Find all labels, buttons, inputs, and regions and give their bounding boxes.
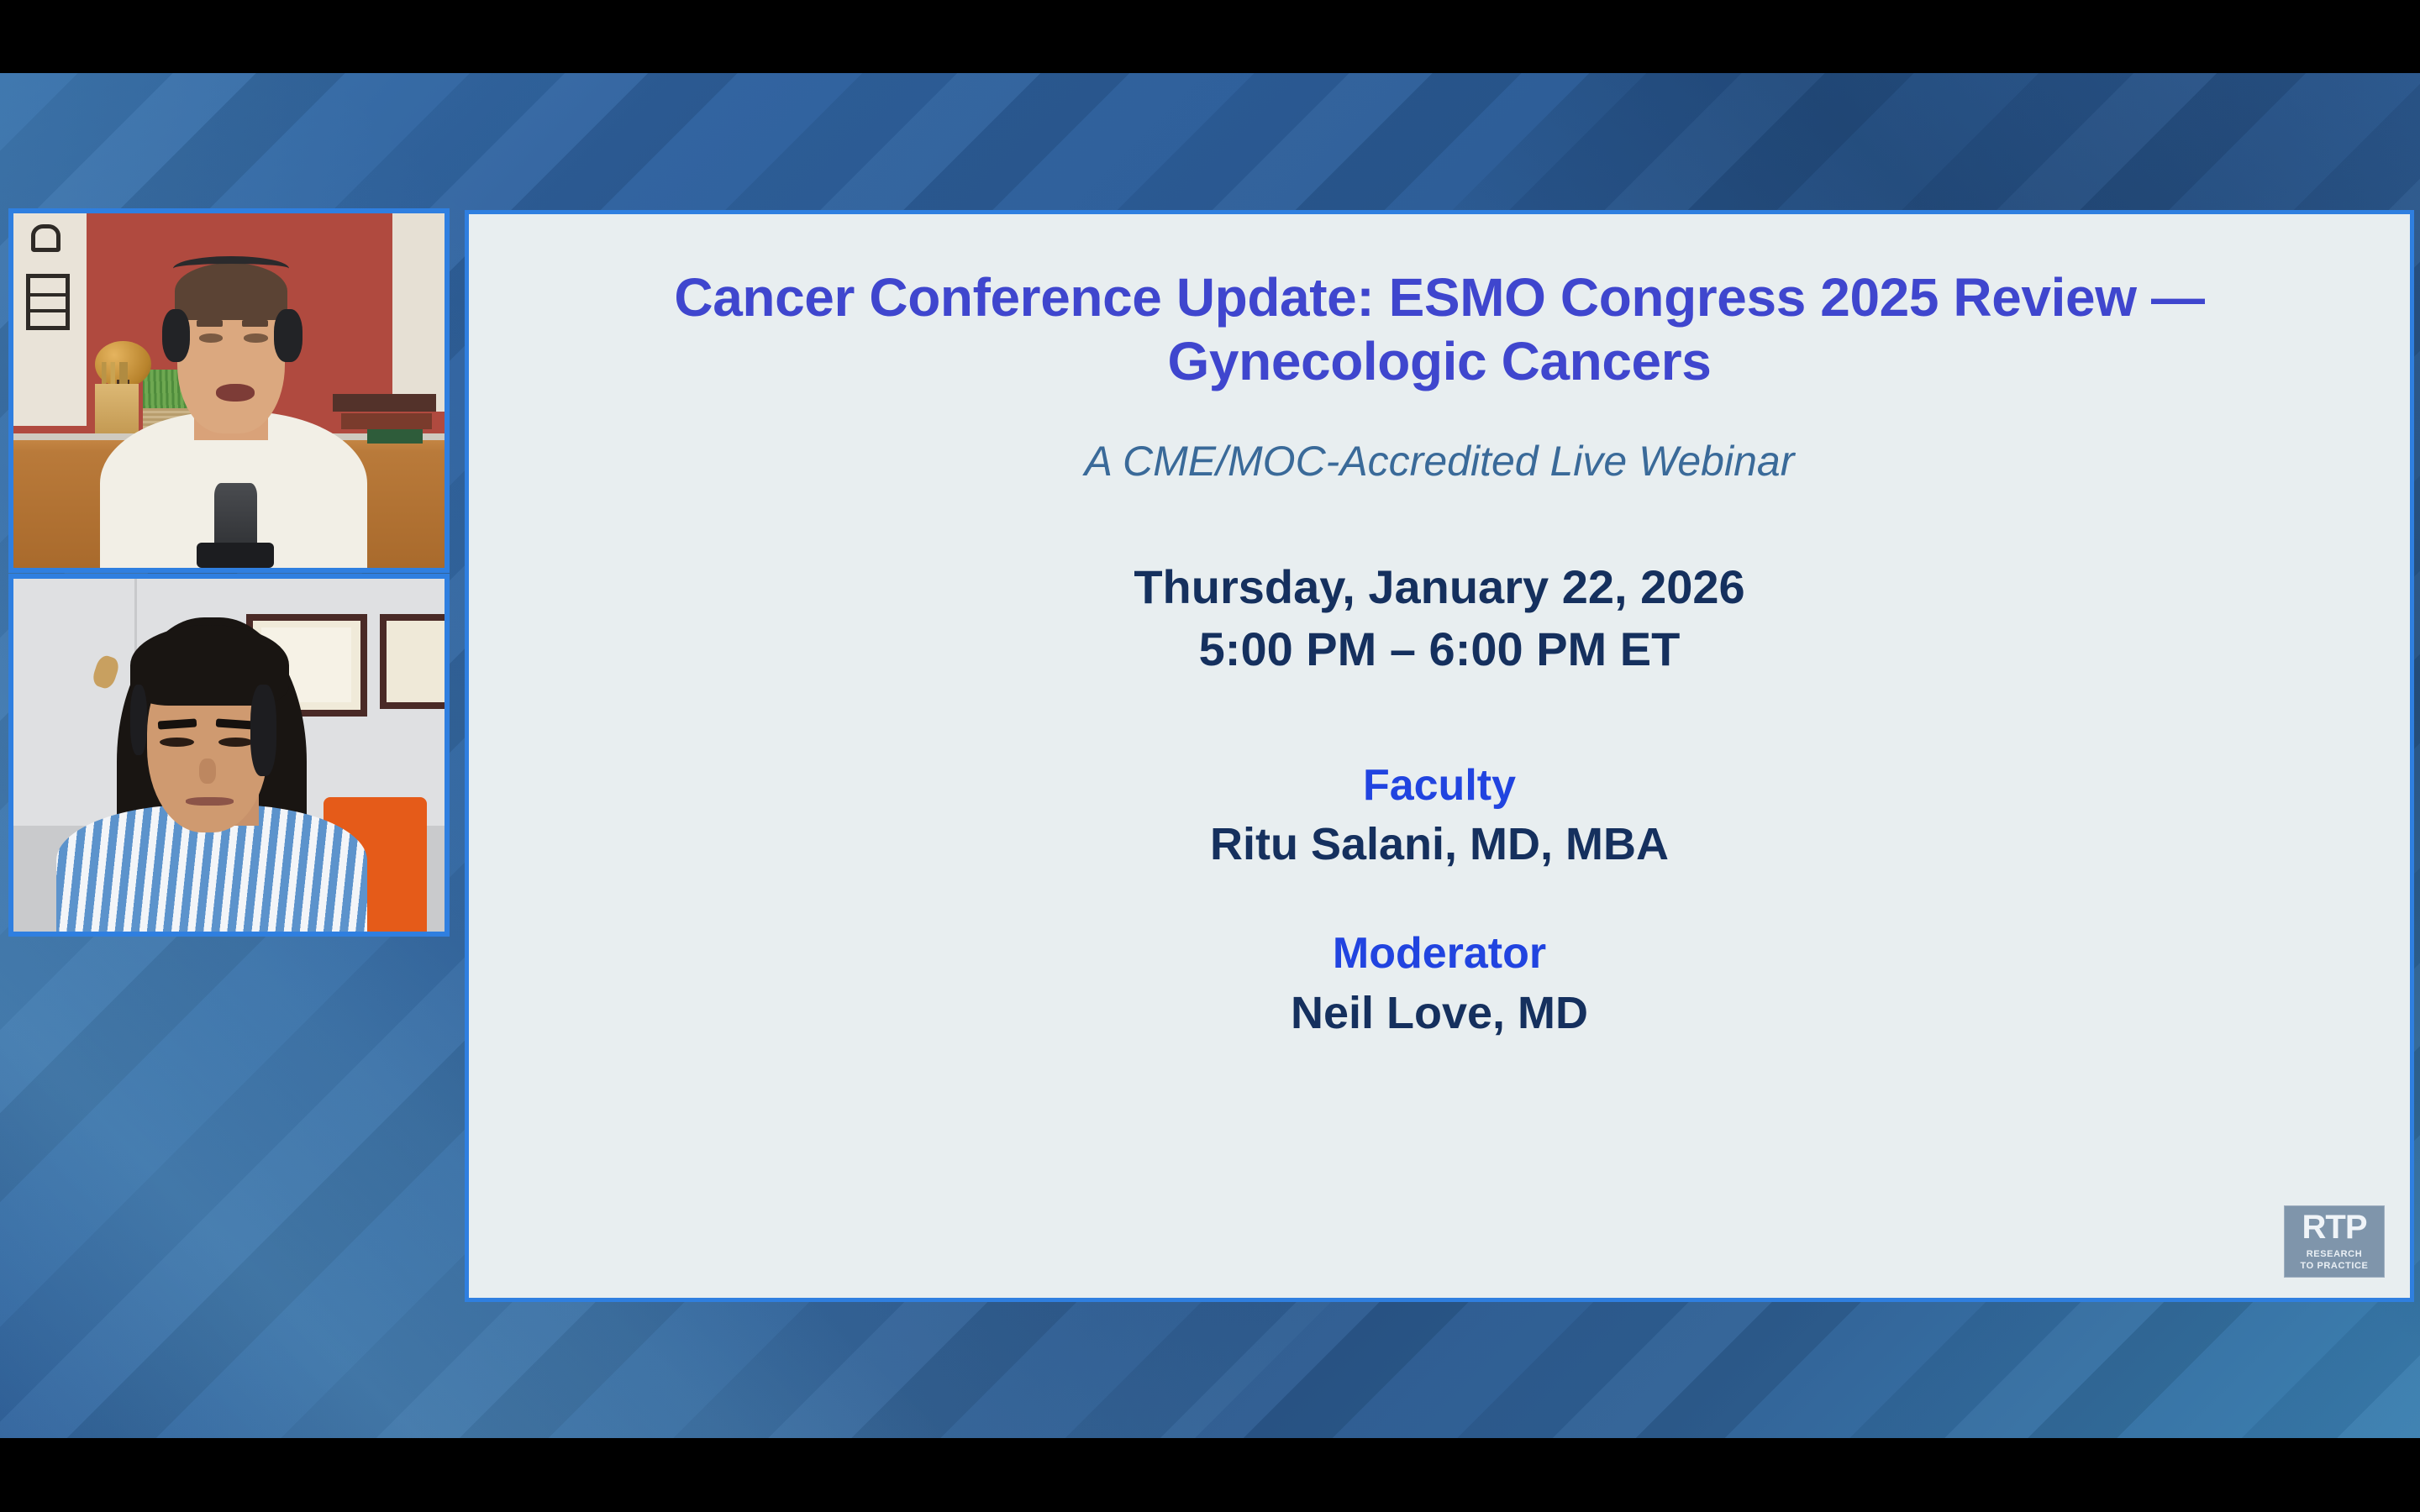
video-tile-faculty[interactable] [8, 574, 450, 937]
moderator-eye-right [244, 333, 267, 342]
moderator-section: Moderator Neil Love, MD [1291, 926, 1588, 1043]
faculty-name: Ritu Salani, MD, MBA [1210, 814, 1669, 875]
diploma-frame-secondary [380, 614, 445, 709]
headphone-earcup-right-icon [274, 309, 302, 362]
moderator-eyebrow-left [197, 320, 223, 327]
moderator-wall-panel-right [392, 213, 445, 412]
faculty-mouth [186, 797, 233, 806]
moderator-eye-left [199, 333, 223, 342]
presentation-slide[interactable]: Cancer Conference Update: ESMO Congress … [465, 210, 2414, 1302]
desk-cup-icon [95, 384, 138, 433]
moderator-label: Moderator [1291, 926, 1588, 983]
desk-books-second-icon [341, 413, 432, 429]
slide-time-line: 5:00 PM – 6:00 PM ET [1199, 622, 1681, 675]
moderator-name: Neil Love, MD [1291, 983, 1588, 1044]
headset-band-icon [130, 685, 148, 755]
slide-datetime: Thursday, January 22, 2026 5:00 PM – 6:0… [1134, 556, 1744, 680]
video-feed-moderator [13, 213, 445, 568]
rtp-logo-tagline-line-1: RESEARCH [2307, 1249, 2363, 1261]
moderator-eyebrow-right [242, 320, 268, 327]
letterbox-bottom [0, 1438, 2420, 1512]
faculty-label: Faculty [1210, 758, 1669, 815]
slide-title: Cancer Conference Update: ESMO Congress … [586, 266, 2294, 393]
slide-subtitle: A CME/MOC-Accredited Live Webinar [1085, 437, 1795, 486]
faculty-eye-left [160, 738, 194, 747]
wall-art-frame-icon [26, 274, 69, 331]
headphones-band-icon [173, 256, 290, 281]
video-tile-moderator[interactable] [8, 208, 450, 573]
desk-books-third-icon [367, 429, 423, 444]
rtp-logo-mark: RTP [2302, 1210, 2367, 1244]
faculty-section: Faculty Ritu Salani, MD, MBA [1210, 758, 1669, 875]
letterbox-top [0, 0, 2420, 73]
rtp-logo: RTP RESEARCH TO PRACTICE [2284, 1205, 2385, 1278]
headset-earpiece-icon [250, 685, 276, 776]
webinar-screen: Cancer Conference Update: ESMO Congress … [0, 0, 2420, 1512]
rtp-logo-tagline-line-2: TO PRACTICE [2301, 1261, 2369, 1273]
slide-date-line: Thursday, January 22, 2026 [1134, 560, 1744, 613]
desk-books-icon [333, 394, 436, 412]
moderator-mouth [216, 384, 255, 402]
slide-title-line-2: Gynecologic Cancers [1168, 331, 1712, 391]
slide-title-line-1: Cancer Conference Update: ESMO Congress … [674, 267, 2204, 328]
video-feed-faculty [13, 579, 445, 932]
faculty-nose [199, 759, 217, 783]
wall-art-icon [31, 224, 61, 253]
faculty-eye-right [218, 738, 253, 747]
headphone-earcup-left-icon [162, 309, 190, 362]
microphone-mount-icon [197, 543, 274, 568]
